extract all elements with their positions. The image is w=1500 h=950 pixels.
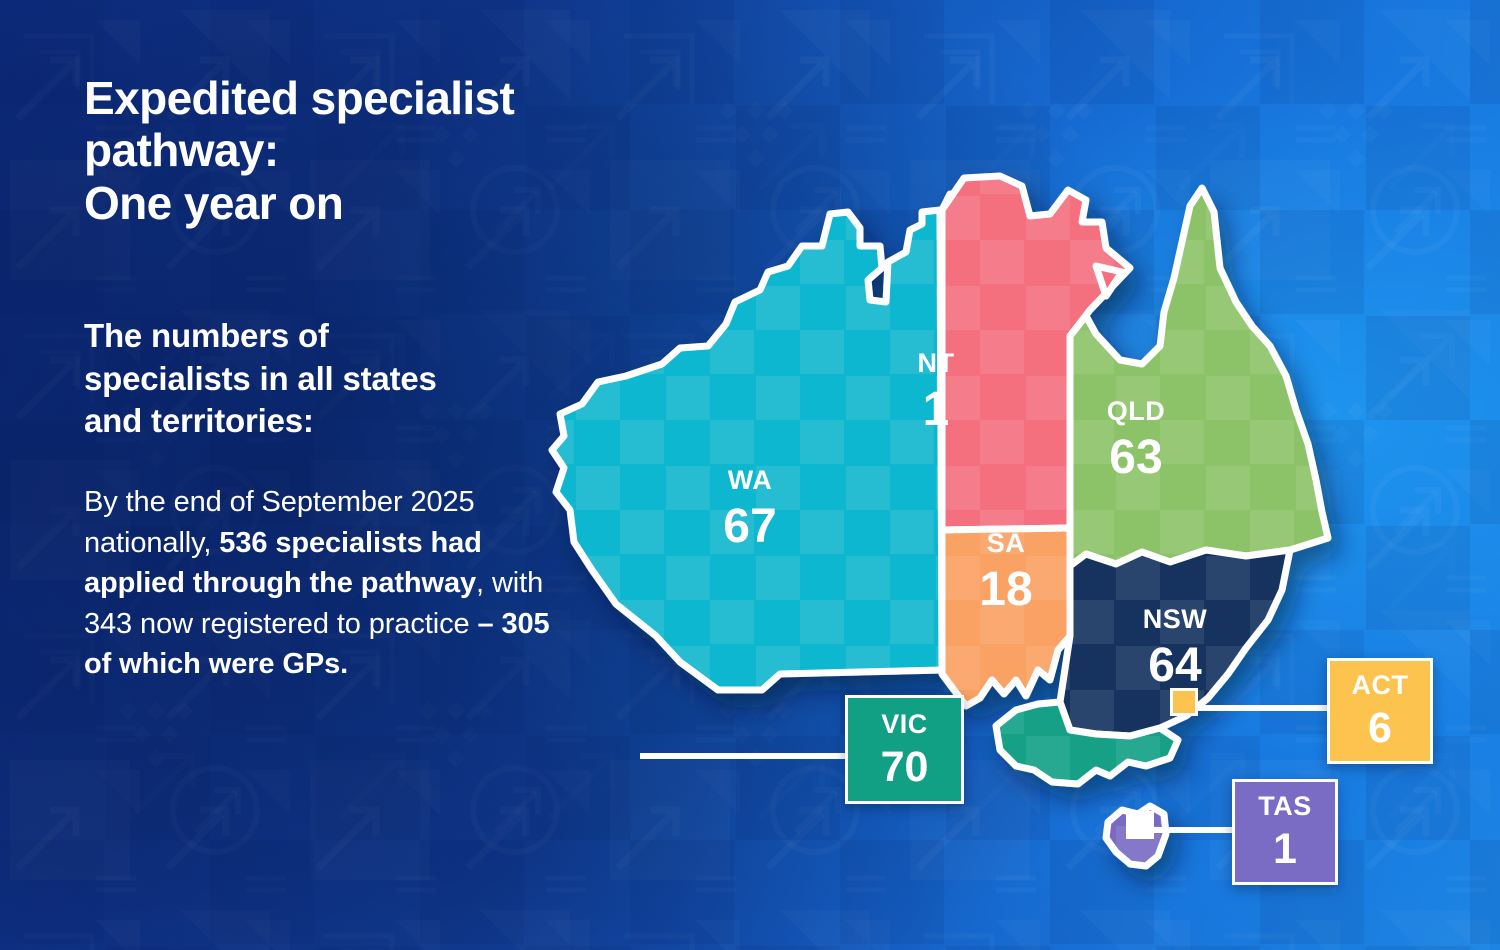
vic-connector-line [640,753,858,759]
map-label-nsw: NSW 64 [1100,606,1250,690]
map-region-wa[interactable] [552,210,942,690]
map-label-nsw-abbr: NSW [1100,606,1250,633]
map-label-nt-value: 1 [866,386,1006,434]
callout-vic-value: 70 [881,746,929,789]
act-map-marker[interactable] [1170,688,1198,716]
map-label-nsw-value: 64 [1100,642,1250,690]
body-paragraph: By the end of September 2025 nationally,… [84,482,554,685]
map-label-qld-abbr: QLD [1066,398,1206,425]
map-label-nt: NT 1 [866,350,1006,434]
callout-act[interactable]: ACT 6 [1327,658,1433,764]
callout-tas[interactable]: TAS 1 [1232,779,1338,885]
subheading: The numbers of specialists in all states… [84,315,594,442]
map-label-qld-value: 63 [1066,434,1206,482]
callout-act-value: 6 [1368,707,1392,750]
map-label-wa-value: 67 [680,503,820,551]
infographic-canvas: Expedited specialist pathway: One year o… [0,0,1500,950]
callout-tas-abbr: TAS [1258,793,1312,820]
map-label-qld: QLD 63 [1066,398,1206,482]
map-label-wa-abbr: WA [680,467,820,494]
callout-act-abbr: ACT [1352,672,1409,699]
callout-tas-value: 1 [1273,828,1297,871]
map-label-sa-value: 18 [936,566,1076,614]
callout-vic[interactable]: VIC 70 [845,695,964,804]
map-label-sa: SA 18 [936,530,1076,614]
map-label-wa: WA 67 [680,467,820,551]
tas-connector-line [1142,827,1238,833]
callout-vic-abbr: VIC [881,711,928,738]
tas-map-marker[interactable] [1126,811,1154,839]
act-connector-line [1180,705,1332,711]
map-label-sa-abbr: SA [936,530,1076,557]
map-label-nt-abbr: NT [866,350,1006,377]
